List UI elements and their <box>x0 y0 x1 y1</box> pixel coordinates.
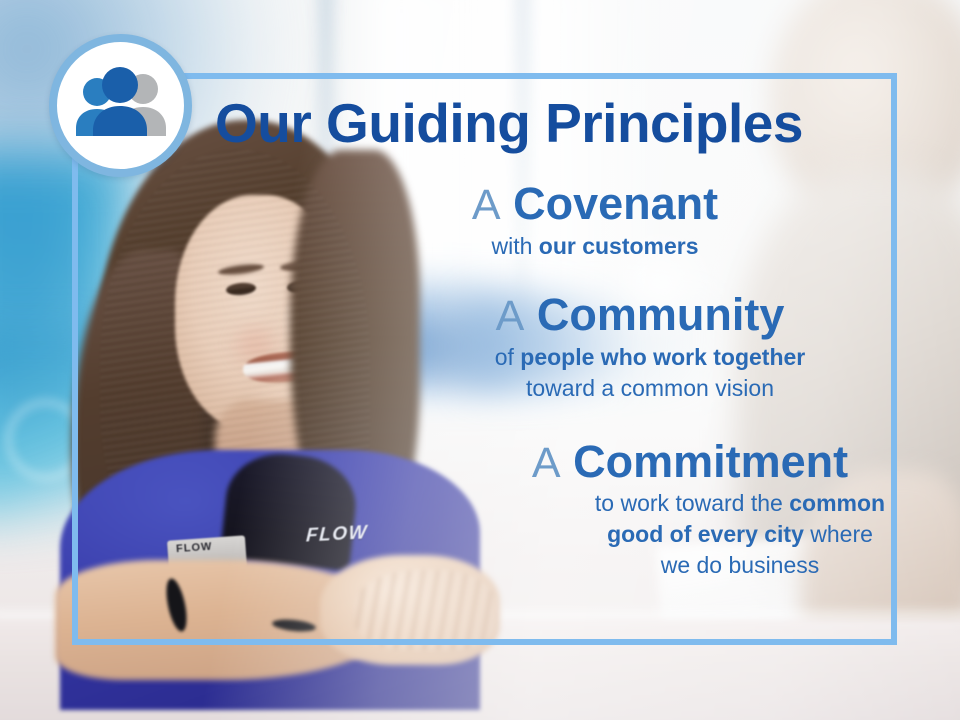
principle-community-subtext: of people who work together toward a com… <box>420 342 880 404</box>
principle-covenant: A Covenant with our customers <box>300 180 880 261</box>
people-group-icon <box>69 67 173 145</box>
principle-covenant-subtext: with our customers <box>310 231 880 262</box>
principle-community-word: Community <box>537 289 785 340</box>
principle-community-heading: A Community <box>400 291 880 340</box>
guiding-principles-graphic: FLOW FLOW Our Guiding Principles <box>0 0 960 720</box>
principle-covenant-heading: A Covenant <box>310 180 880 229</box>
page-title: Our Guiding Principles <box>215 96 803 151</box>
commitment-sub-line-3: we do business <box>530 550 950 581</box>
commitment-sub-line-1: to work toward the common <box>530 488 950 519</box>
principle-commitment-subtext: to work toward the common good of every … <box>530 488 950 580</box>
community-sub-bold: people who work together <box>520 344 805 370</box>
principles-list: A Covenant with our customers A Communit… <box>300 180 880 587</box>
people-group-badge <box>49 34 192 177</box>
principle-community: A Community of people who work together … <box>300 291 880 403</box>
principle-commitment: A Commitment to work toward the common g… <box>300 438 880 581</box>
principle-covenant-article: A <box>472 181 501 229</box>
principle-community-article: A <box>496 292 525 340</box>
commitment-sub-prefix: to work toward the <box>595 490 789 516</box>
commitment-sub-bold-b: good of every city <box>607 521 804 547</box>
commitment-sub-bold-a: common <box>789 490 885 516</box>
principle-commitment-word: Commitment <box>573 436 848 487</box>
commitment-sub-line-2: good of every city where <box>530 519 950 550</box>
covenant-sub-bold: our customers <box>539 233 699 259</box>
principle-commitment-article: A <box>532 439 561 487</box>
principle-commitment-heading: A Commitment <box>500 438 880 487</box>
community-sub-line-2: toward a common vision <box>420 373 880 404</box>
community-sub-line-1: of people who work together <box>420 342 880 373</box>
community-sub-prefix: of <box>495 344 521 370</box>
commitment-sub-where: where <box>810 521 873 547</box>
principle-covenant-word: Covenant <box>513 178 718 229</box>
covenant-sub-plain: with <box>491 233 538 259</box>
